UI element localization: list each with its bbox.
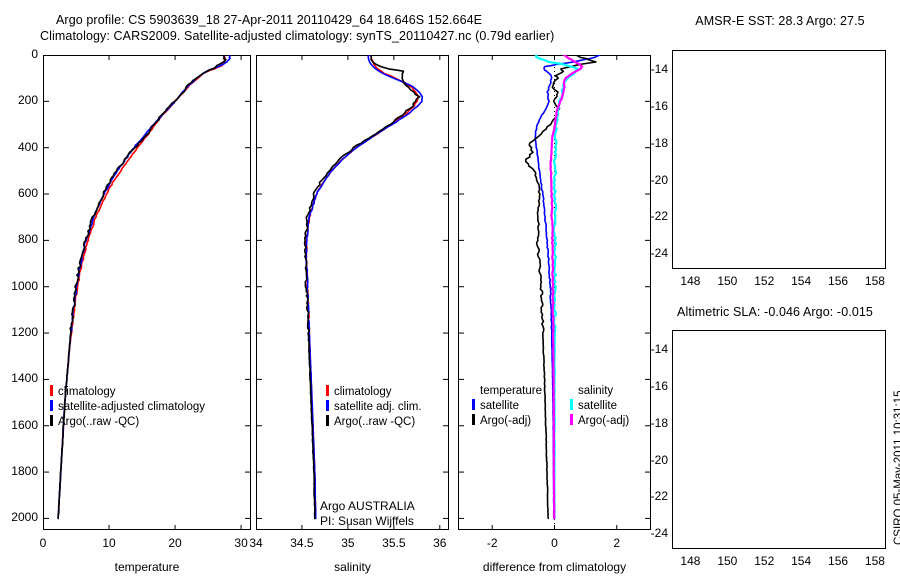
temperature-plot-area bbox=[43, 55, 251, 530]
legend-label-temp-satellite: satellite bbox=[480, 400, 519, 412]
credit-line1: Argo AUSTRALIA bbox=[320, 499, 415, 514]
legend-label-argo: Argo(..raw -QC) bbox=[334, 416, 415, 428]
figure-title-line1: Argo profile: CS 5903639_18 27-Apr-2011 … bbox=[56, 13, 482, 27]
legend-swatch-argo bbox=[50, 415, 53, 426]
axis-tick-label: 0 bbox=[13, 536, 73, 550]
axis-tick-label: 0 bbox=[0, 47, 38, 61]
legend-label-sal-argo: Argo(-adj) bbox=[578, 415, 629, 427]
axis-tick-label: -2 bbox=[462, 536, 522, 550]
figure-root: Argo profile: CS 5903639_18 27-Apr-2011 … bbox=[0, 0, 900, 580]
salinity-panel: climatology satellite adj. clim. Argo(..… bbox=[256, 55, 449, 530]
legend-swatch-climatology bbox=[50, 385, 53, 396]
difference-xlabel: difference from climatology bbox=[448, 560, 661, 574]
axis-tick-label: 20 bbox=[145, 536, 205, 550]
axis-tick-label: 800 bbox=[0, 232, 38, 246]
axis-tick-label: -14 bbox=[630, 342, 668, 356]
sla-map-title: Altimetric SLA: -0.046 Argo: -0.015 bbox=[650, 305, 900, 319]
axis-tick-label: -20 bbox=[630, 453, 668, 467]
legend-swatch-sal-argo bbox=[570, 414, 573, 425]
sst-map-raster bbox=[672, 50, 886, 269]
legend-label-satellite: satellite-adjusted climatology bbox=[58, 401, 205, 413]
legend-label-climatology: climatology bbox=[58, 386, 116, 398]
temperature-legend: climatology satellite-adjusted climatolo… bbox=[50, 385, 246, 428]
temperature-xlabel: temperature bbox=[43, 560, 251, 574]
difference-legend-temperature: temperature satellite Argo(-adj) bbox=[472, 385, 542, 427]
legend-label-climatology: climatology bbox=[334, 386, 392, 398]
axis-tick-label: 0 bbox=[525, 536, 585, 550]
axis-tick-label: -24 bbox=[630, 246, 668, 260]
temperature-panel: climatology satellite-adjusted climatolo… bbox=[43, 55, 251, 530]
axis-tick-label: 1400 bbox=[0, 371, 38, 385]
legend-swatch-satellite bbox=[326, 400, 329, 411]
legend-header-temperature: temperature bbox=[472, 385, 542, 397]
axis-tick-label: 1000 bbox=[0, 279, 38, 293]
legend-swatch-climatology bbox=[326, 385, 329, 396]
axis-tick-label: 1600 bbox=[0, 418, 38, 432]
sst-map bbox=[672, 50, 886, 269]
legend-swatch-argo bbox=[326, 415, 329, 426]
axis-tick-label: -16 bbox=[630, 99, 668, 113]
difference-legend: temperature satellite Argo(-adj) salinit… bbox=[472, 385, 629, 427]
axis-tick-label: 200 bbox=[0, 93, 38, 107]
axis-tick-label: 36 bbox=[410, 536, 470, 550]
axis-tick-label: -24 bbox=[630, 526, 668, 540]
difference-plot-area bbox=[458, 55, 651, 530]
axis-tick-label: 400 bbox=[0, 140, 38, 154]
axis-tick-label: -22 bbox=[630, 209, 668, 223]
salinity-plot-area bbox=[256, 55, 449, 530]
axis-tick-label: 158 bbox=[850, 554, 900, 568]
axis-tick-label: 1200 bbox=[0, 325, 38, 339]
credit-block: Argo AUSTRALIA PI: Susan Wijffels bbox=[320, 499, 415, 529]
difference-panel: temperature satellite Argo(-adj) salinit… bbox=[458, 55, 651, 530]
axis-tick-label: -20 bbox=[630, 173, 668, 187]
legend-label-satellite: satellite adj. clim. bbox=[334, 401, 422, 413]
legend-label-argo: Argo(..raw -QC) bbox=[58, 416, 139, 428]
axis-tick-label: 2000 bbox=[0, 510, 38, 524]
salinity-legend: climatology satellite adj. clim. Argo(..… bbox=[326, 385, 422, 428]
axis-tick-label: 600 bbox=[0, 186, 38, 200]
axis-tick-label: -22 bbox=[630, 489, 668, 503]
legend-swatch-temp-argo bbox=[472, 414, 475, 425]
axis-tick-label: -18 bbox=[630, 136, 668, 150]
legend-label-temp-argo: Argo(-adj) bbox=[480, 415, 531, 427]
figure-title-line2: Climatology: CARS2009. Satellite-adjuste… bbox=[40, 29, 554, 43]
axis-tick-label: -18 bbox=[630, 416, 668, 430]
legend-swatch-temp-satellite bbox=[472, 399, 475, 410]
salinity-xlabel: salinity bbox=[256, 560, 449, 574]
axis-tick-label: 158 bbox=[850, 274, 900, 288]
sla-map bbox=[672, 330, 886, 549]
legend-swatch-satellite bbox=[50, 400, 53, 411]
sst-map-title: AMSR-E SST: 28.3 Argo: 27.5 bbox=[660, 14, 900, 28]
credit-line2: PI: Susan Wijffels bbox=[320, 514, 415, 529]
difference-legend-salinity: salinity satellite Argo(-adj) bbox=[570, 385, 629, 427]
axis-tick-label: 10 bbox=[79, 536, 139, 550]
axis-tick-label: 1800 bbox=[0, 464, 38, 478]
legend-header-salinity: salinity bbox=[570, 385, 629, 397]
legend-label-sal-satellite: satellite bbox=[578, 400, 617, 412]
sla-map-raster bbox=[672, 330, 886, 549]
axis-tick-label: -14 bbox=[630, 62, 668, 76]
axis-tick-label: -16 bbox=[630, 379, 668, 393]
legend-swatch-sal-satellite bbox=[570, 399, 573, 410]
